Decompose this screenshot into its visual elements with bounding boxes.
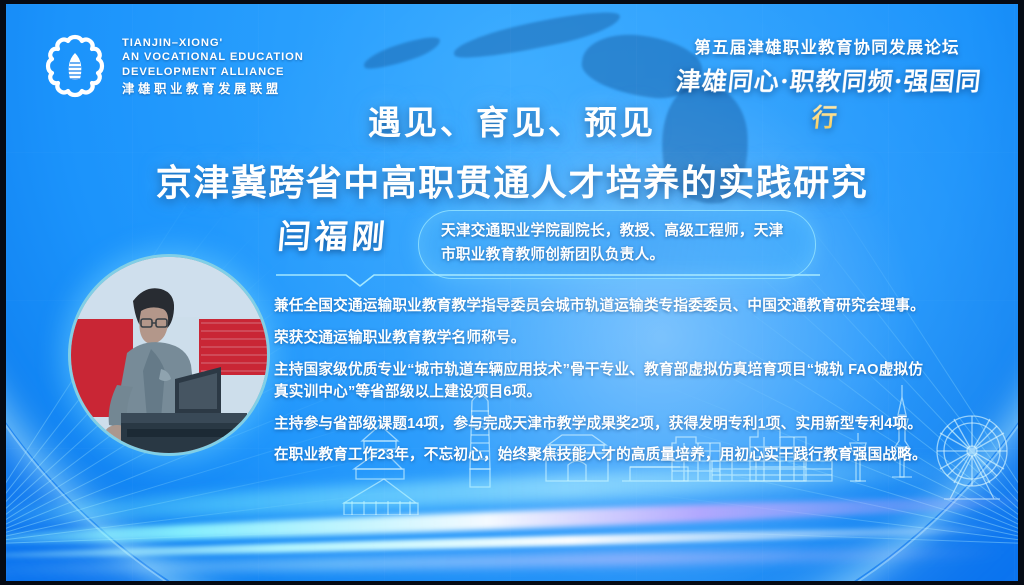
globe-landmass (451, 5, 623, 66)
page-title-line2: 京津冀跨省中高职贯通人才培养的实践研究 (6, 154, 1018, 206)
forum-name: 第五届津雄职业教育协同发展论坛 (662, 34, 992, 58)
alliance-name-en-line1: TIANJIN–XIONG' (122, 36, 304, 50)
section-divider (274, 272, 822, 290)
bio-line: 兼任全国交通运输职业教育教学指导委员会城市轨道运输类专指委委员、中国交通教育研究… (274, 296, 934, 318)
alliance-name-en-line3: DEVELOPMENT ALLIANCE (122, 65, 304, 79)
page-title-line1: 遇见、育见、预见 (6, 96, 1018, 144)
speaker-role: 天津交通职业学院副院长，教授、高级工程师，天津市职业教育教师创新团队负责人。 (418, 210, 816, 279)
presentation-title: 遇见、育见、预见 京津冀跨省中高职贯通人才培养的实践研究 (6, 96, 1018, 206)
bio-line: 主持参与省部级课题14项，参与完成天津市教学成果奖2项，获得发明专利1项、实用新… (274, 414, 934, 436)
speaker-photo (68, 254, 270, 456)
bio-line: 主持国家级优质专业“城市轨道车辆应用技术”骨干专业、教育部虚拟仿真培育项目“城轨… (274, 360, 934, 404)
alliance-flower-pagoda-logo-icon (40, 32, 110, 102)
bio-line: 荣获交通运输职业教育教学名师称号。 (274, 328, 934, 350)
bio-line: 在职业教育工作23年，不忘初心，始终聚焦技能人才的高质量培养，用初心实干践行教育… (274, 445, 934, 467)
led-screen-surface: TIANJIN–XIONG' AN VOCATIONAL EDUCATION D… (6, 4, 1018, 581)
globe-landmass (361, 32, 443, 74)
speaker-name: 闫福刚 (276, 210, 391, 258)
speaker-bio: 兼任全国交通运输职业教育教学指导委员会城市轨道运输类专指委委员、中国交通教育研究… (274, 296, 934, 467)
presentation-screen-photo: TIANJIN–XIONG' AN VOCATIONAL EDUCATION D… (0, 0, 1024, 585)
alliance-logo-text: TIANJIN–XIONG' AN VOCATIONAL EDUCATION D… (122, 36, 304, 98)
alliance-name-en-line2: AN VOCATIONAL EDUCATION (122, 50, 304, 64)
alliance-logo: TIANJIN–XIONG' AN VOCATIONAL EDUCATION D… (40, 32, 304, 102)
